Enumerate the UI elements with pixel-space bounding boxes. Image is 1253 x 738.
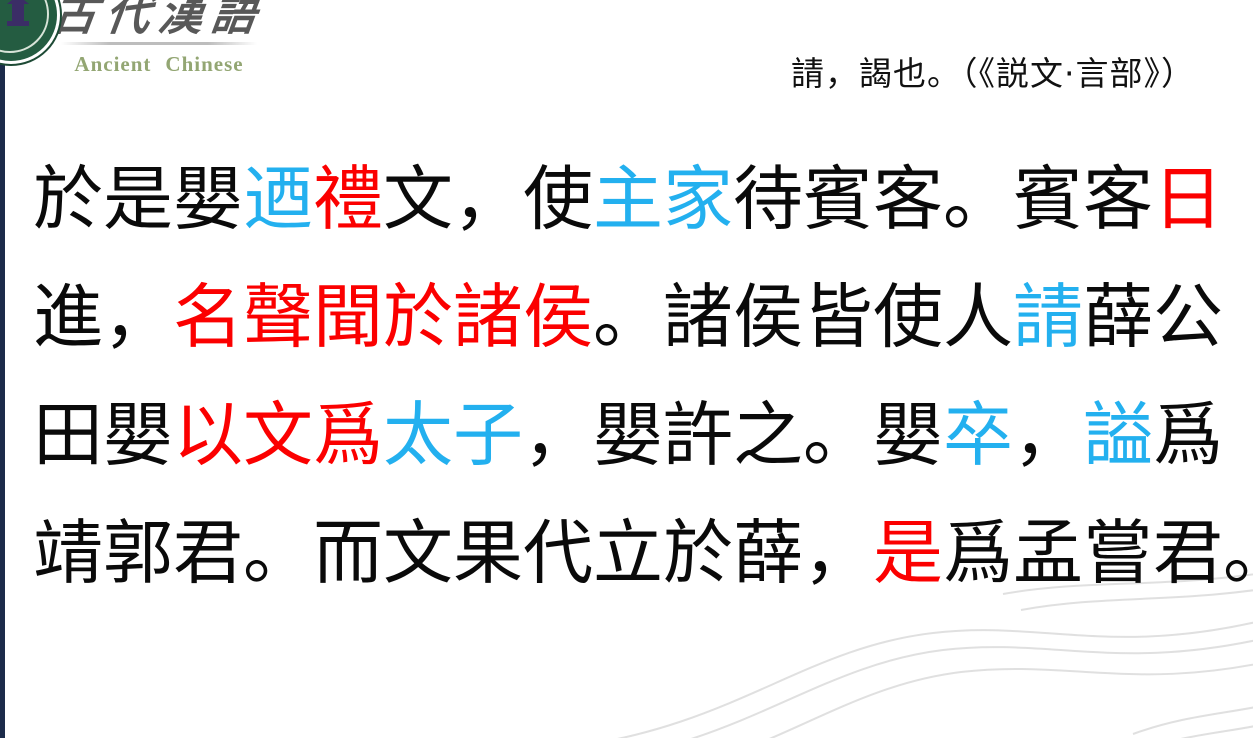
- passage-segment-blue: 太子: [383, 394, 523, 476]
- slide-canvas: 古代漢語 AncientChinese 請，謁也。（《説文·言部》） 於是嬰迺禮…: [0, 0, 1253, 738]
- passage-segment-black: 於是嬰: [33, 158, 243, 240]
- passage-segment-red: 名聲聞於諸侯: [173, 276, 593, 358]
- passage-segment-blue: 主家: [593, 158, 733, 240]
- passage-segment-black: 田嬰: [33, 394, 173, 476]
- passage-segment-blue: 迺: [243, 158, 313, 240]
- course-title-calligraphy: 古代漢語: [40, 0, 277, 41]
- passage-segment-blue: 卒: [943, 394, 1013, 476]
- left-edge-strip: [0, 0, 5, 738]
- passage-segment-black: 。諸侯皆使人: [593, 276, 1013, 358]
- passage-segment-black: 爲: [1153, 394, 1223, 476]
- passage-body: 於是嬰迺禮文，使主家待賓客。賓客日進，名聲聞於諸侯。諸侯皆使人請薛公田嬰以文爲太…: [33, 140, 1231, 612]
- passage-segment-black: 靖郭君。而文果代立於薛，: [33, 512, 873, 594]
- gloss-citation-line: 請，謁也。（《説文·言部》）: [0, 52, 1195, 96]
- passage-line: 靖郭君。而文果代立於薛，是爲孟嘗君。: [33, 494, 1231, 612]
- passage-segment-black: 文，使: [383, 158, 593, 240]
- passage-line: 進，名聲聞於諸侯。諸侯皆使人請薛公: [33, 258, 1231, 376]
- passage-segment-blue: 請: [1013, 276, 1083, 358]
- passage-segment-red: 日: [1153, 158, 1223, 240]
- passage-segment-red: 以文爲: [173, 394, 383, 476]
- passage-segment-black: 進，: [33, 276, 173, 358]
- passage-line: 田嬰以文爲太子，嬰許之。嬰卒，謚爲: [33, 376, 1231, 494]
- passage-segment-black: 薛公: [1083, 276, 1223, 358]
- passage-segment-black: 待賓客。賓客: [733, 158, 1153, 240]
- brand-divider: [61, 42, 257, 45]
- passage-line: 於是嬰迺禮文，使主家待賓客。賓客日: [33, 140, 1231, 258]
- passage-segment-blue: 謚: [1083, 394, 1153, 476]
- passage-segment-red: 禮: [313, 158, 383, 240]
- passage-segment-black: ，: [1013, 394, 1083, 476]
- passage-segment-red: 是: [873, 512, 943, 594]
- pagoda-icon: [7, 0, 29, 29]
- passage-segment-black: 爲孟嘗君。: [943, 512, 1253, 594]
- passage-segment-black: ，嬰許之。嬰: [523, 394, 943, 476]
